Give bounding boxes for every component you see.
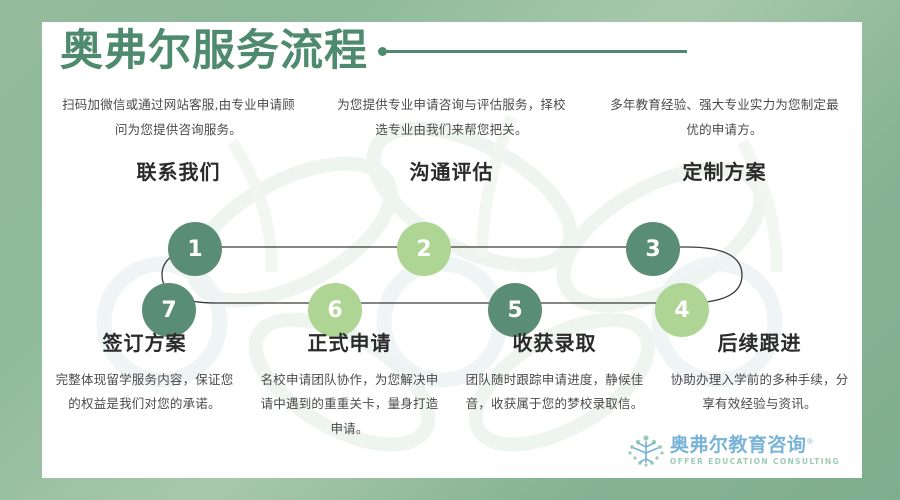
flow-node-number: 7: [161, 298, 176, 323]
content-card: 奥弗尔服务流程 扫码加微信或通过网站客服,由专业申请顾问为您提供咨询服务。 联系…: [42, 22, 862, 478]
logo-english-name: OFFER EDUCATION CONSULTING: [670, 458, 840, 466]
step-title: 联系我们: [58, 156, 299, 185]
title-dot-icon: [378, 47, 387, 56]
flow-node-2[interactable]: 2: [397, 222, 451, 276]
step-title: 定制方案: [604, 156, 845, 185]
step-description: 为您提供专业申请咨询与评估服务，择校选专业由我们来帮您把关。: [331, 92, 572, 142]
step-description: 扫码加微信或通过网站客服,由专业申请顾问为您提供咨询服务。: [58, 92, 299, 142]
step-title: 签订方案: [52, 327, 237, 356]
flow-node-number: 4: [674, 298, 689, 323]
step-block-7: 签订方案 完整体现留学服务内容，保证您的权益是我们对您的承诺。: [42, 327, 247, 441]
logo-text-block: 奥弗尔教育咨询® OFFER EDUCATION CONSULTING: [670, 436, 840, 466]
step-description: 协助办理入学前的多种手续，分享有效经验与资讯。: [667, 368, 852, 417]
step-block-4: 后续跟进 协助办理入学前的多种手续，分享有效经验与资讯。: [657, 327, 862, 441]
logo-cn-text: 奥弗尔教育咨询: [670, 434, 807, 456]
flow-node-3[interactable]: 3: [626, 222, 680, 276]
step-description: 完整体现留学服务内容，保证您的权益是我们对您的承诺。: [52, 368, 237, 417]
registered-mark-icon: ®: [806, 438, 814, 446]
step-block-6: 正式申请 名校申请团队协作，为您解决申请中遇到的重重关卡，量身打造申请。: [247, 327, 452, 441]
flow-node-number: 5: [507, 298, 522, 323]
step-block-3: 多年教育经验、强大专业实力为您制定最优的申请方。 定制方案: [588, 92, 861, 185]
title-decorative-line: [378, 47, 820, 56]
bottom-steps-row: 签订方案 完整体现留学服务内容，保证您的权益是我们对您的承诺。 正式申请 名校申…: [42, 327, 862, 441]
step-title: 收获录取: [462, 327, 647, 356]
step-title: 正式申请: [257, 327, 442, 356]
flow-node-1[interactable]: 1: [168, 222, 222, 276]
top-steps-row: 扫码加微信或通过网站客服,由专业申请顾问为您提供咨询服务。 联系我们 为您提供专…: [42, 92, 862, 185]
step-title: 后续跟进: [667, 327, 852, 356]
step-block-1: 扫码加微信或通过网站客服,由专业申请顾问为您提供咨询服务。 联系我们: [42, 92, 315, 185]
flow-diagram: 1 2 3 4 5 6 7: [42, 202, 862, 347]
logo-chinese-name: 奥弗尔教育咨询®: [670, 436, 840, 455]
step-description: 团队随时跟踪申请进度，静候佳音，收获属于您的梦校录取信。: [462, 368, 647, 417]
page-title: 奥弗尔服务流程: [60, 30, 368, 73]
poster-root: 奥弗尔服务流程 扫码加微信或通过网站客服,由专业申请顾问为您提供咨询服务。 联系…: [0, 0, 900, 500]
flow-node-number: 3: [645, 237, 660, 262]
brand-logo: 奥弗尔教育咨询® OFFER EDUCATION CONSULTING: [627, 434, 840, 468]
step-description: 名校申请团队协作，为您解决申请中遇到的重重关卡，量身打造申请。: [257, 368, 442, 441]
header-title-row: 奥弗尔服务流程: [60, 30, 820, 73]
tree-people-icon: [627, 434, 665, 468]
step-block-2: 为您提供专业申请咨询与评估服务，择校选专业由我们来帮您把关。 沟通评估: [315, 92, 588, 185]
title-rule: [387, 50, 687, 53]
flow-node-number: 2: [416, 237, 431, 262]
step-description: 多年教育经验、强大专业实力为您制定最优的申请方。: [604, 92, 845, 142]
step-title: 沟通评估: [331, 156, 572, 185]
flow-node-number: 1: [187, 237, 202, 262]
step-block-5: 收获录取 团队随时跟踪申请进度，静候佳音，收获属于您的梦校录取信。: [452, 327, 657, 441]
flow-node-number: 6: [327, 298, 342, 323]
